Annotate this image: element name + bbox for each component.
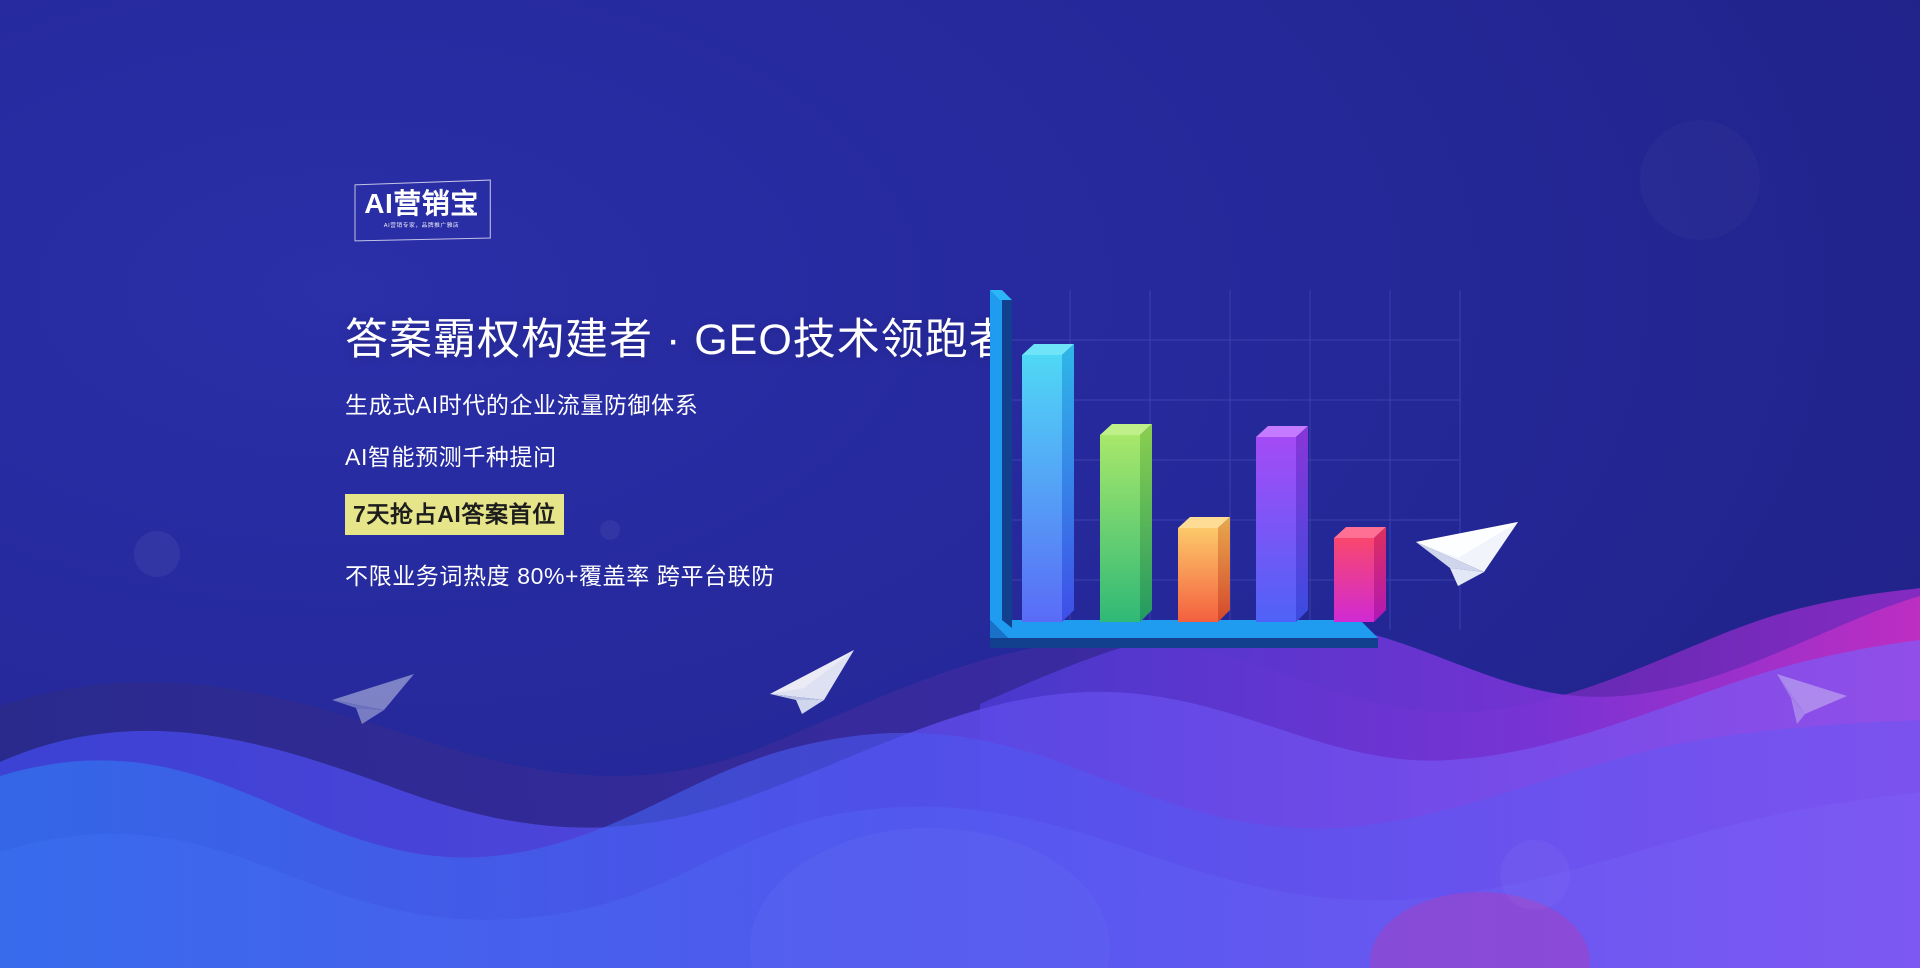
logo-name: AI营销宝 [353, 189, 490, 219]
logo-tagline: AI营销专家，品牌推广雅店 [356, 222, 486, 230]
page-title: 答案霸权构建者 · GEO技术领跑者 [345, 312, 1065, 368]
hero-subtitle-1: 生成式AI时代的企业流量防御体系 [345, 390, 1065, 420]
wave-glow-blob [750, 828, 1110, 968]
wave-glow-blob-magenta [1370, 892, 1590, 968]
chart-axis-wall [990, 290, 1012, 628]
deco-circle-bottom-right [1500, 840, 1570, 910]
paper-plane-far-right [1775, 668, 1855, 728]
chart-grid [1010, 290, 1460, 630]
chart-bar-4 [1256, 426, 1308, 622]
paper-plane-left [330, 662, 420, 728]
chart-base-platform [990, 620, 1378, 648]
bar-chart-svg [960, 280, 1480, 680]
deco-circle-top-right [1640, 120, 1760, 240]
paper-plane-large-right [1414, 510, 1524, 590]
hero-subtitle-2: AI智能预测千种提问 [345, 442, 1065, 472]
paper-plane-mid-center [768, 648, 860, 718]
hero-copy: 答案霸权构建者 · GEO技术领跑者 生成式AI时代的企业流量防御体系 AI智能… [345, 312, 1065, 591]
chart-bar-2 [1100, 424, 1152, 622]
chart-bar-5 [1334, 527, 1386, 622]
brand-logo[interactable]: AI营销宝 AI营销专家，品牌推广雅店 [353, 182, 490, 240]
promo-banner: AI营销宝 AI营销专家，品牌推广雅店 答案霸权构建者 · GEO技术领跑者 生… [0, 0, 1920, 968]
wave-blue [0, 720, 1920, 968]
hero-subtitle-3: 不限业务词热度 80%+覆盖率 跨平台联防 [345, 561, 1065, 591]
chart-bar-3 [1178, 517, 1230, 622]
chart-bar-1 [1022, 344, 1074, 622]
hero-highlight-wrapper: 7天抢占AI答案首位 [345, 494, 1065, 535]
wave-indigo [0, 640, 1920, 968]
deco-circle-left [134, 531, 180, 577]
hero-highlight-badge: 7天抢占AI答案首位 [345, 494, 564, 535]
wave-light-blue [0, 792, 1920, 968]
bar-chart-illustration [960, 280, 1480, 680]
